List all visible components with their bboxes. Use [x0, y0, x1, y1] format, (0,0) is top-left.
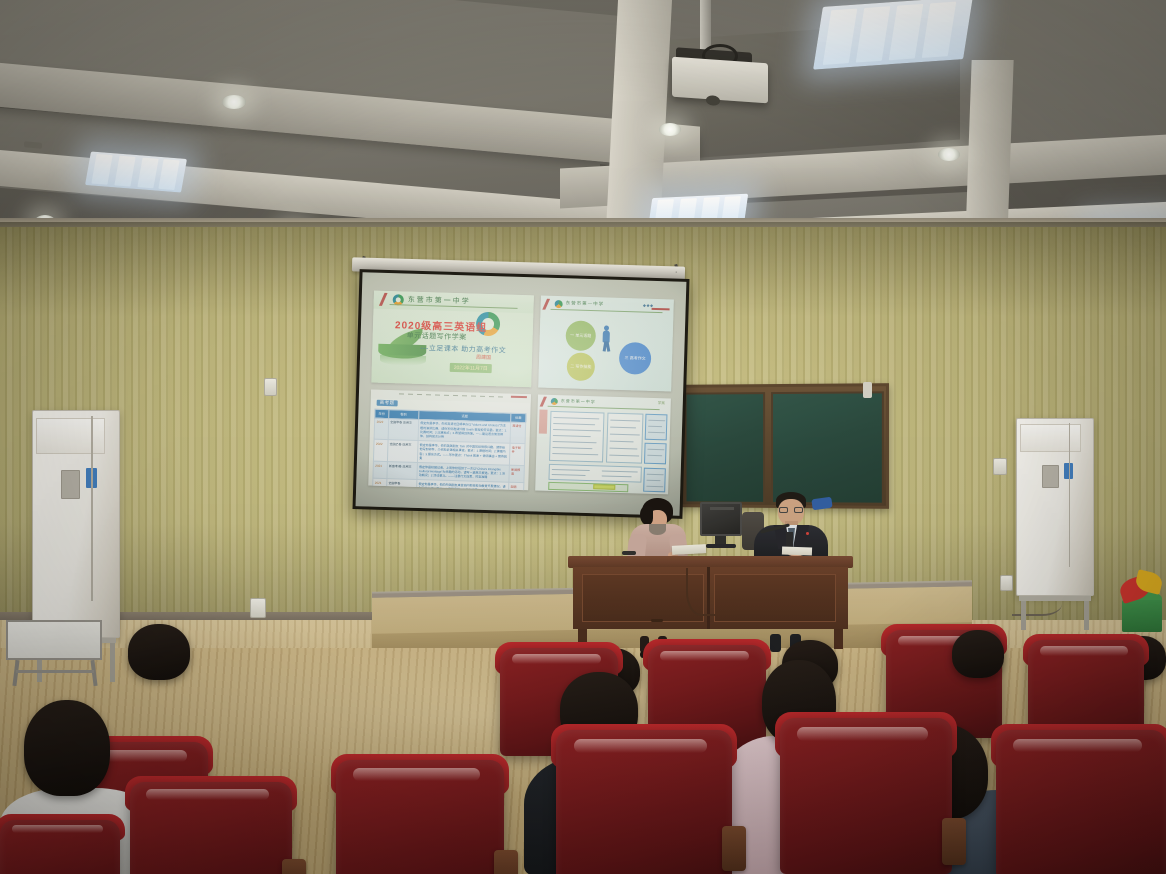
- seat-armrest: [494, 850, 518, 874]
- desktop-monitor: [700, 502, 742, 546]
- papers-on-desk: [782, 546, 812, 555]
- ac-panel-seam: [1069, 423, 1071, 567]
- worksheet-highlighted-answer: [593, 484, 615, 490]
- worksheet-box: [606, 413, 643, 464]
- header-slash-accent: [540, 397, 547, 407]
- slide-exam-table: 高考题 年份卷别话题体裁 2022全国甲卷 应用文假定你是李华，你校英语社团将举…: [368, 390, 531, 491]
- ac-air-vent: [36, 418, 105, 454]
- worksheet-side-marker: [539, 410, 548, 434]
- header-dash-accent: [652, 308, 670, 311]
- ceiling-projector: [672, 57, 768, 104]
- screen-brand-label: ▪: [675, 269, 677, 274]
- table-cell: 假定你是李华，你的外国朋友来信询问你校劳动教育开展情况，请你回信介绍。要点：1.…: [416, 480, 509, 491]
- school-name: 东营市第一中学: [566, 300, 605, 307]
- table-cell: 回信: [508, 482, 524, 490]
- header-slash-accent: [542, 299, 550, 310]
- table-cell: 2021: [372, 478, 386, 490]
- projection-surface: 东营市第一中学 2020级高三英语组 单元话题写作学案 ---立足课本 助力高考…: [356, 272, 687, 516]
- running-person-silhouette-icon: [601, 325, 611, 351]
- recessed-downlight: [659, 123, 681, 136]
- monitor-bezel-strip: [710, 507, 734, 510]
- slide-date: 2022年11月7日: [450, 363, 492, 373]
- projected-slide-deck: 东营市第一中学 2020级高三英语组 单元话题写作学案 ---立足课本 助力高考…: [368, 291, 674, 498]
- hair-side: [640, 506, 653, 525]
- audience-head: [128, 624, 190, 680]
- floral-arrangement: [1118, 560, 1166, 632]
- table-cell: 邀请信: [510, 422, 526, 444]
- wall-outlet: [264, 378, 277, 396]
- school-logo-icon: [555, 300, 563, 308]
- auditorium-photo: ▪ 东营市第一中学 2020级高三英语组 单元话题写作学案 --: [0, 0, 1166, 874]
- exam-question-table: 年份卷别话题体裁 2022全国甲卷 应用文假定你是李华，你校英语社团将举办以"V…: [372, 409, 527, 491]
- school-name: 东营市第一中学: [561, 398, 596, 405]
- desk-panel-right: [714, 574, 836, 622]
- worksheet-box: [549, 411, 604, 463]
- flower-pot: [1122, 600, 1162, 632]
- arm-left: [627, 533, 647, 559]
- seat-armrest: [282, 859, 306, 874]
- seat: [996, 730, 1166, 874]
- recessed-downlight: [938, 148, 960, 161]
- blackboard-clip: [863, 382, 872, 398]
- table-column-header: 年份: [375, 409, 389, 418]
- eyeglasses-icon: [779, 507, 788, 513]
- audience-head: [24, 700, 110, 796]
- collar: [649, 524, 666, 535]
- fluorescent-panel-light: [813, 0, 973, 70]
- blackboard-panel-right: [771, 391, 884, 504]
- blackboard-panel-left: [685, 392, 766, 504]
- monitor-base: [706, 544, 736, 548]
- eyeglasses-icon: [794, 507, 803, 513]
- seat: [0, 820, 120, 874]
- floor-standing-ac-right: [1016, 418, 1094, 630]
- monitor-screen: [700, 502, 742, 536]
- worksheet-tab-label: 学案: [658, 401, 665, 406]
- ac-display-panel: [61, 470, 80, 499]
- table-section-tag: 高考题: [377, 400, 398, 407]
- school-logo-icon: [551, 398, 558, 405]
- header-rule: [548, 406, 660, 410]
- wall-outlet: [250, 598, 266, 618]
- seat: [556, 730, 732, 874]
- ac-stand: [1019, 596, 1091, 630]
- header-dash-accent: [511, 396, 527, 398]
- lapel-pin: [806, 532, 809, 535]
- slide-overview-circles: 东营市第一中学 ◆◆◆ 一 单元话题 二 写作技能 三 高考作文: [538, 296, 674, 392]
- table-cell: 新高考I卷 应用文: [387, 461, 418, 479]
- seat: [130, 782, 292, 874]
- desk-leg: [834, 629, 843, 649]
- wall-outlet: [993, 458, 1007, 475]
- whiteboard-easel: [0, 620, 106, 686]
- ac-cabinet: [1016, 418, 1094, 596]
- table-cell: 2021: [373, 461, 387, 479]
- header-rule: [551, 309, 663, 313]
- seat-armrest: [942, 818, 966, 865]
- slide-subtitle-2: ---立足课本 助力高考作文: [420, 343, 506, 356]
- table-cell: 假定你是李华，你的英国朋友 Tom 对中国剪纸很感兴趣，请你给他写封邮件，介绍剪…: [417, 441, 510, 465]
- desk-cable: [686, 568, 716, 616]
- table-cell: 假定你是李华，你校英语社团将举办以"Values and Choices"为主题…: [418, 419, 511, 443]
- worksheet-box-highlight: [645, 414, 668, 441]
- projector-lens: [706, 95, 720, 106]
- desk-handle: [651, 619, 663, 622]
- ac-cabinet: [32, 410, 120, 638]
- table-cell: 2022: [373, 440, 387, 462]
- ac-air-vent: [1020, 424, 1081, 452]
- table-column-header: 体裁: [511, 413, 526, 422]
- slide-worksheet: 东营市第一中学 学案: [535, 395, 671, 495]
- table-cell: 全国甲卷 应用文: [388, 418, 419, 440]
- table-cell: 新闻报道: [509, 465, 525, 483]
- worksheet-box-highlight: [643, 468, 666, 493]
- projection-screen: 东营市第一中学 2020级高三英语组 单元话题写作学案 ---立足课本 助力高考…: [353, 269, 690, 519]
- seat: [336, 760, 504, 874]
- sliding-green-blackboard: [678, 383, 889, 509]
- table-cell: 全国乙卷 应用文: [387, 440, 418, 462]
- seat-armrest: [722, 826, 746, 871]
- table-cell: 电子邮件: [509, 444, 525, 466]
- slide-title: 东营市第一中学 2020级高三英语组 单元话题写作学案 ---立足课本 助力高考…: [371, 291, 534, 388]
- recessed-downlight: [222, 95, 246, 109]
- seat: [780, 718, 952, 874]
- diagram-circle-2: 二 写作技能: [566, 352, 595, 381]
- worksheet-box-highlight: [644, 443, 667, 465]
- table-body: 2022全国甲卷 应用文假定你是李华，你校英语社团将举办以"Values and…: [372, 418, 526, 490]
- diagram-circle-3: 三 高考作文: [619, 342, 652, 375]
- microphone-base: [786, 532, 793, 548]
- diagram-circle-1: 一 单元话题: [565, 320, 596, 351]
- ac-display-panel: [1042, 465, 1059, 488]
- slide-subtitle-1: 单元话题写作学案: [407, 331, 467, 343]
- ac-panel-seam: [91, 416, 93, 602]
- table-cell: 2022: [374, 418, 388, 440]
- phone-on-desk: [622, 551, 636, 555]
- slide-presenter-name: 周建国: [476, 354, 491, 361]
- worksheet-footer-box: [548, 482, 628, 492]
- audience-head: [952, 630, 1004, 678]
- table-cell: 全国甲卷: [386, 479, 417, 491]
- worksheet-box: [548, 464, 641, 483]
- whiteboard-surface: [6, 620, 102, 660]
- papers-on-desk: [672, 544, 706, 555]
